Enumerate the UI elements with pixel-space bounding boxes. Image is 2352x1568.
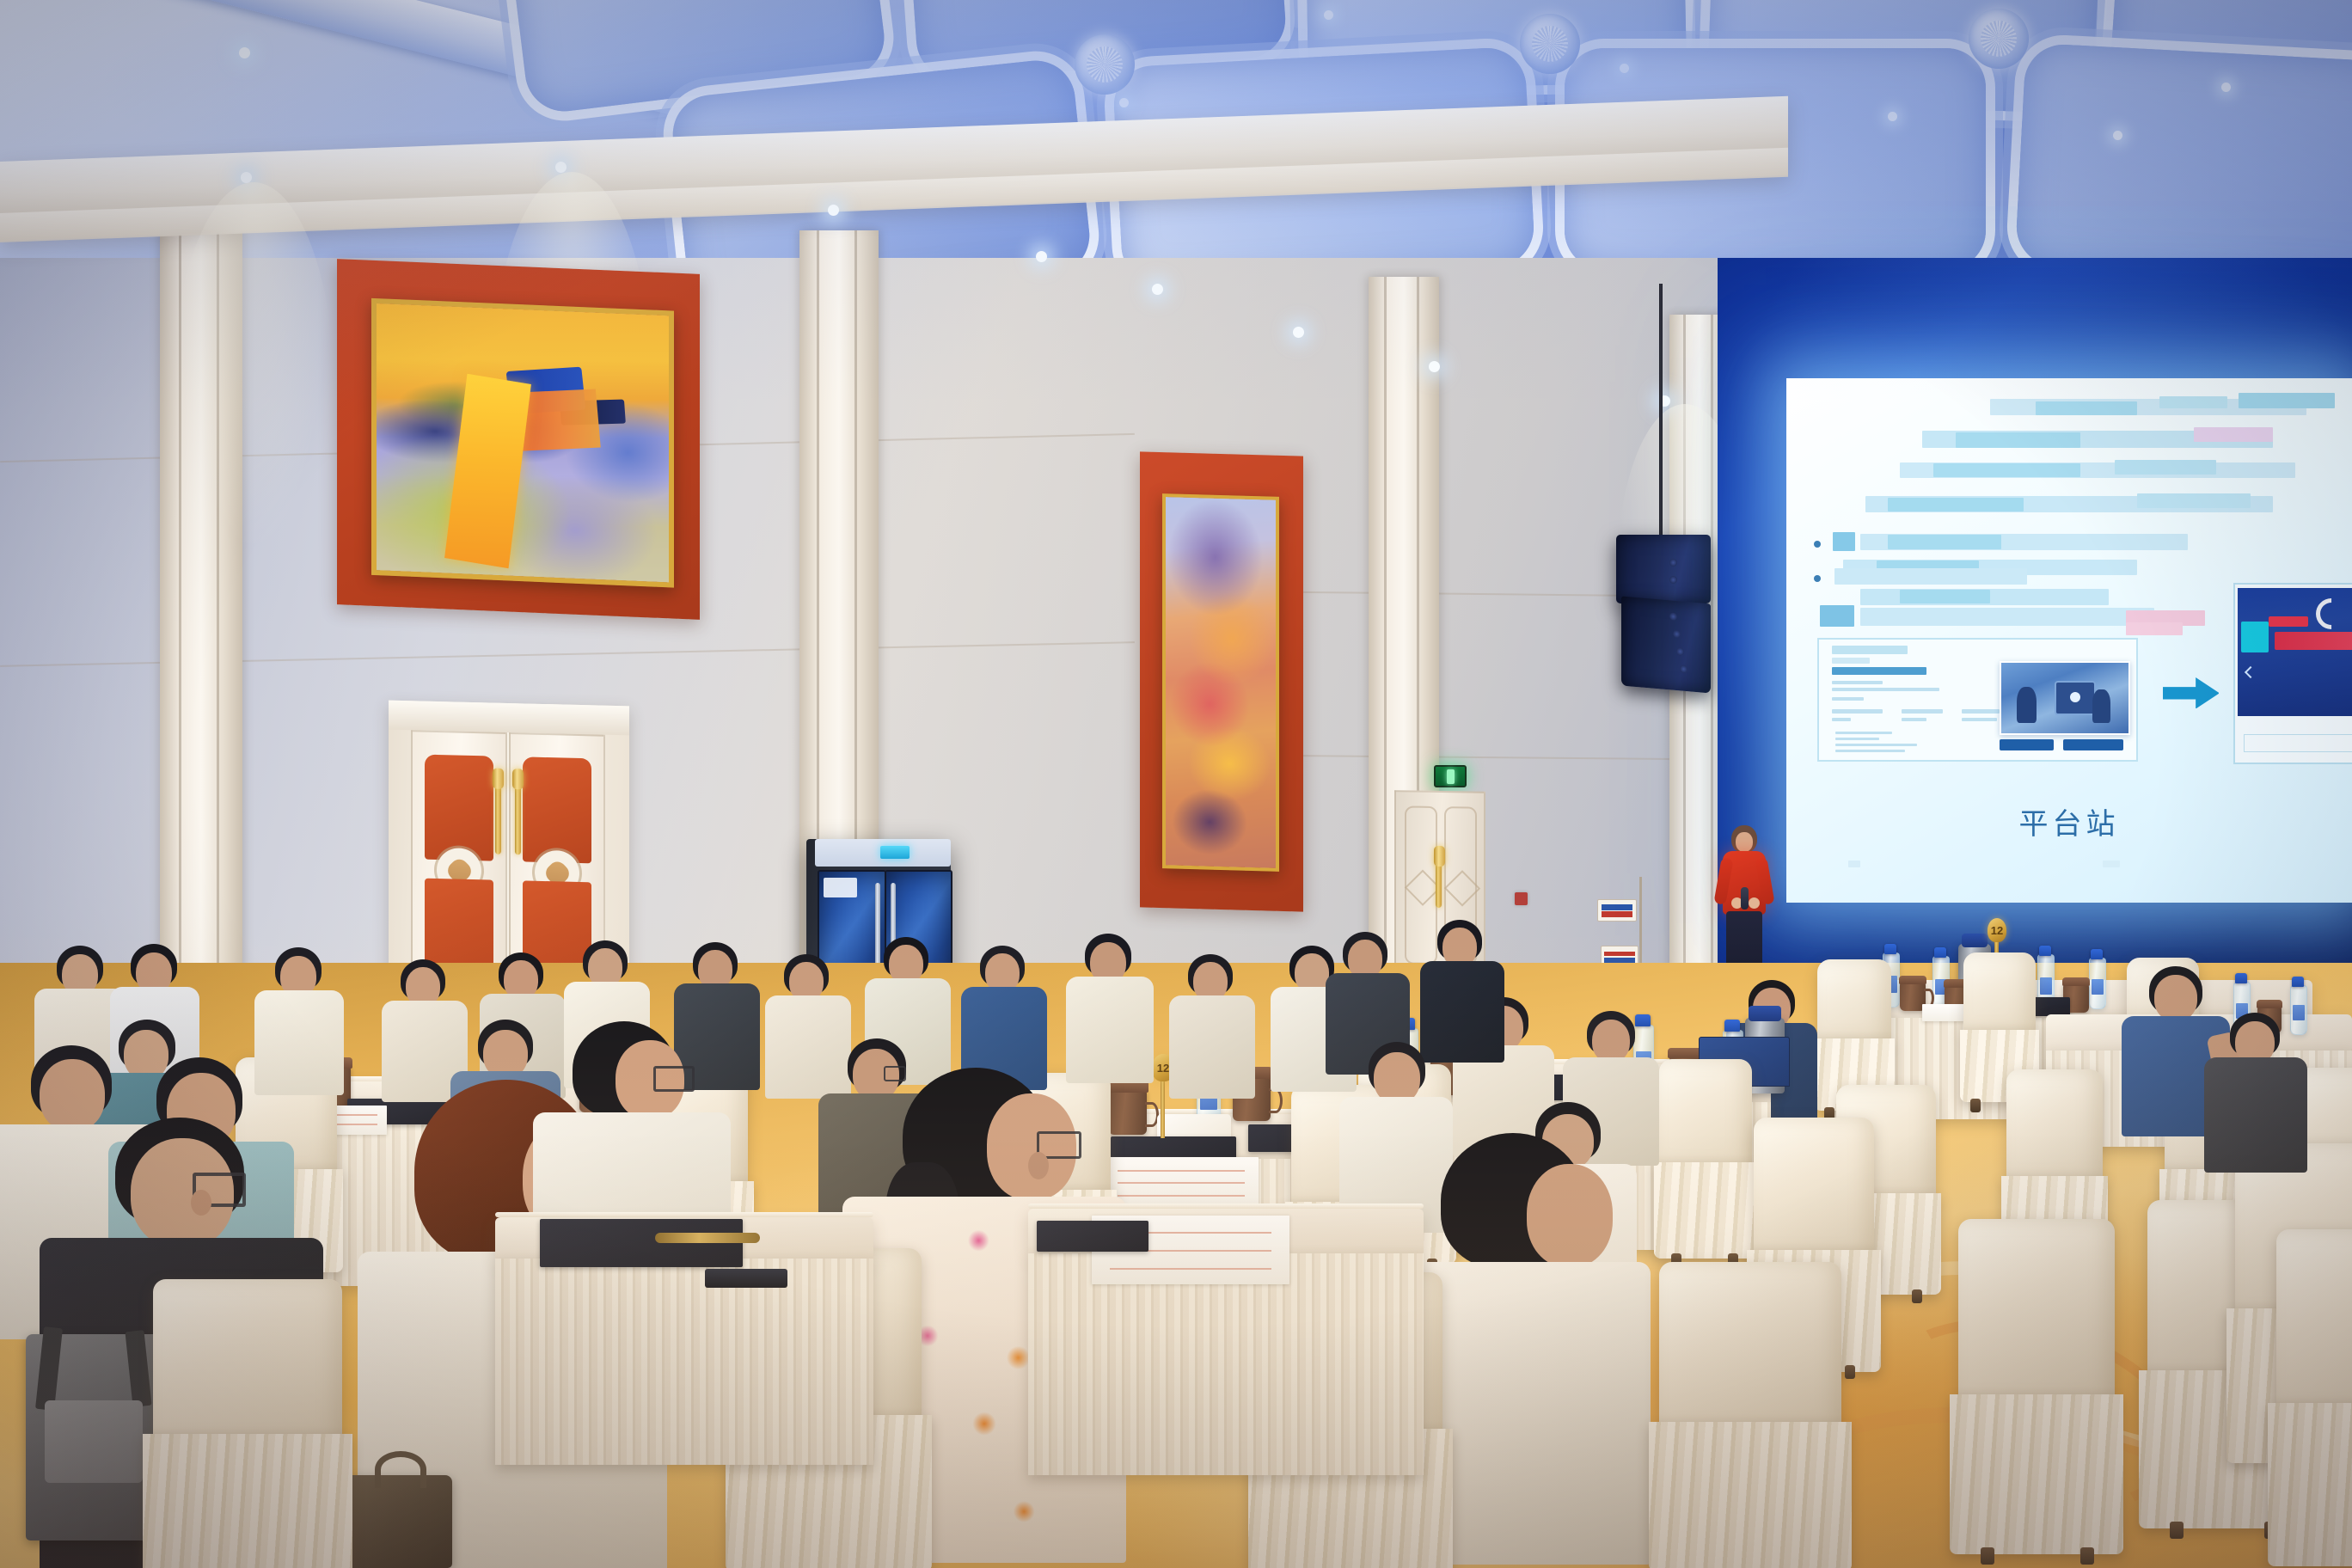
- wall-downlight: [1429, 361, 1440, 372]
- door-leaf-left[interactable]: [411, 730, 507, 990]
- wall-downlight: [555, 162, 567, 173]
- card-photo: [2000, 661, 2129, 734]
- painting-landscape-frame: [371, 298, 674, 588]
- bottle-cap: [2039, 946, 2051, 956]
- running-man-icon: [1447, 769, 1455, 784]
- wall-info-plate-upper: [1597, 899, 1637, 922]
- bottle-cap: [1724, 1020, 1740, 1032]
- wall-downlight: [239, 47, 250, 58]
- art-panel-landscape: [337, 259, 700, 620]
- slide-content-card: [1817, 638, 2137, 762]
- audience-member: [2204, 1013, 2307, 1176]
- conference-hall-photo: 平台站: [0, 0, 2352, 1568]
- projection-screen: 平台站: [1786, 378, 2352, 903]
- art-panel-vertical: [1140, 451, 1303, 911]
- wall-downlight: [1293, 327, 1304, 338]
- painting-vertical-frame: [1162, 493, 1279, 872]
- painting-landscape: [377, 303, 669, 582]
- handheld-microphone: [1741, 887, 1749, 910]
- wall-downlight: [241, 172, 252, 183]
- fridge-header-panel: [815, 839, 951, 867]
- audience-member: [1169, 954, 1255, 1102]
- wall-conduit: [1639, 877, 1642, 970]
- backpack[interactable]: [26, 1334, 162, 1540]
- painting-vertical: [1166, 497, 1276, 868]
- slide-caption: 平台站: [1786, 800, 2352, 842]
- banquet-chair[interactable]: [2276, 1229, 2352, 1568]
- handbag[interactable]: [337, 1475, 452, 1568]
- bottle-cap: [1934, 947, 1946, 958]
- slide-bullet-2: [1814, 575, 1821, 582]
- banquet-chair[interactable]: [1958, 1219, 2115, 1563]
- fridge-label: [824, 878, 857, 898]
- presenter-face: [1736, 832, 1753, 852]
- wall-red-plate: [1515, 892, 1528, 905]
- bottle-cap: [2292, 977, 2304, 987]
- table-number-label: 12: [1988, 918, 2006, 942]
- bottle-cap: [2235, 973, 2247, 983]
- conference-folder[interactable]: [1037, 1221, 1148, 1252]
- flow-arrow-icon: [2163, 677, 2220, 709]
- wall-downlight: [1036, 251, 1047, 262]
- wall-downlight: [828, 205, 839, 216]
- thermos-cap: [1962, 934, 1988, 947]
- fridge-display: [880, 846, 910, 859]
- banquet-chair[interactable]: [1659, 1262, 1841, 1568]
- conference-folder[interactable]: [540, 1219, 743, 1267]
- audience-member: [1066, 934, 1154, 1087]
- exit-sign: [1434, 765, 1467, 787]
- banquet-chair[interactable]: [1659, 1059, 1752, 1262]
- speaker-suspension-wire: [1659, 284, 1663, 542]
- mobile-app-mockup: [2233, 583, 2352, 764]
- thermos-cap: [1749, 1006, 1781, 1021]
- bottle-cap: [2091, 949, 2103, 959]
- bottle-cap: [1884, 944, 1896, 954]
- table-skirt: [495, 1259, 873, 1465]
- table-skirt: [1028, 1253, 1424, 1475]
- card-button-primary[interactable]: [2000, 739, 2054, 750]
- pen[interactable]: [655, 1233, 760, 1243]
- card-button-secondary[interactable]: [2063, 739, 2123, 750]
- water-bottle[interactable]: [2089, 958, 2106, 1009]
- smartphone[interactable]: [705, 1269, 787, 1288]
- banquet-chair[interactable]: [153, 1279, 342, 1568]
- wall-downlight: [1152, 284, 1163, 295]
- slide-bullet-1: [1814, 541, 1821, 548]
